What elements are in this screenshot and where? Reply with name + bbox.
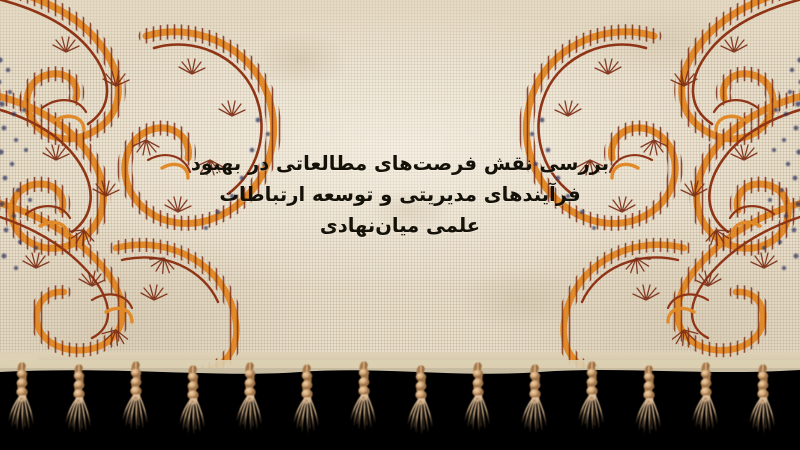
slide-title: بررسی نقش فرصت‌های مطالعاتی در بهبود فرآ… <box>0 148 800 241</box>
title-slide: بررسی نقش فرصت‌های مطالعاتی در بهبود فرآ… <box>0 0 800 450</box>
title-line-3: علمی میان‌نهادی <box>0 210 800 241</box>
title-line-2: فرآیندهای مدیریتی و توسعه ارتباطات <box>0 179 800 210</box>
cloth-hem-edge <box>0 352 800 378</box>
title-line-1: بررسی نقش فرصت‌های مطالعاتی در بهبود <box>0 148 800 179</box>
